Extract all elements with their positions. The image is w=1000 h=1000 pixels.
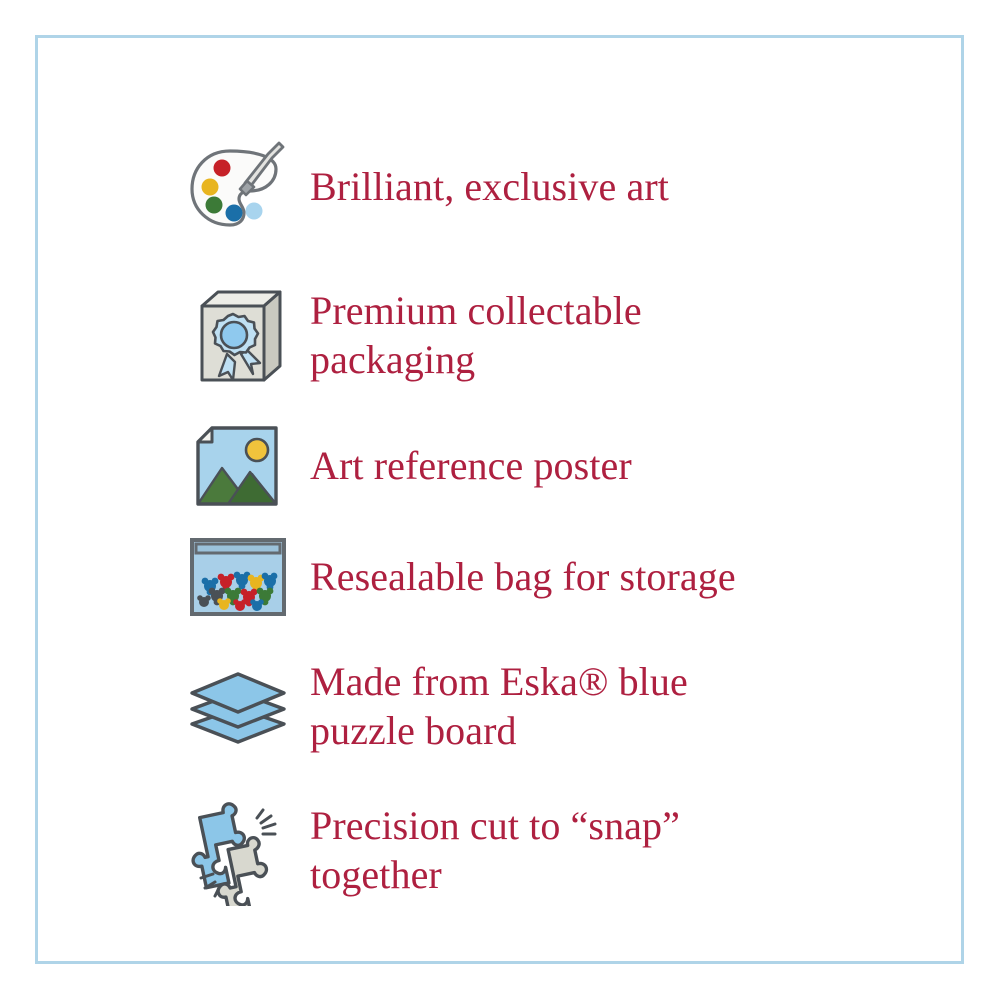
list-item: Art reference poster [178, 411, 898, 521]
gift-box-rosette-icon [178, 281, 298, 391]
feature-label: Resealable bag for storage [310, 553, 898, 602]
list-item-label-cell: Made from Eska® blue puzzle board [298, 658, 898, 756]
list-item: Brilliant, exclusive art [178, 113, 898, 261]
feature-label: Premium collectable packaging [310, 287, 898, 385]
panel-frame: Brilliant, exclusive art [35, 35, 964, 964]
resealable-bag-icon [178, 522, 298, 632]
list-item-label-cell: Premium collectable packaging [298, 287, 898, 385]
feature-list: Brilliant, exclusive art [178, 113, 898, 921]
list-item-label-cell: Art reference poster [298, 442, 898, 491]
list-item-label-cell: Precision cut to “snap” together [298, 802, 898, 900]
feature-label: Brilliant, exclusive art [310, 163, 898, 212]
list-item-label-cell: Brilliant, exclusive art [298, 163, 898, 212]
snapping-puzzle-pieces-icon [178, 796, 298, 906]
list-item: Made from Eska® blue puzzle board [178, 633, 898, 781]
feature-panel-page: Brilliant, exclusive art [0, 0, 1000, 1000]
list-item: Resealable bag for storage [178, 521, 898, 633]
list-item: Precision cut to “snap” together [178, 781, 898, 921]
feature-label: Made from Eska® blue puzzle board [310, 658, 898, 756]
list-item-label-cell: Resealable bag for storage [298, 553, 898, 602]
stacked-board-sheets-icon [178, 652, 298, 762]
list-item: Premium collectable packaging [178, 261, 898, 411]
poster-landscape-icon [178, 411, 298, 521]
paint-palette-icon [178, 132, 298, 242]
feature-label: Precision cut to “snap” together [310, 802, 898, 900]
feature-label: Art reference poster [310, 442, 898, 491]
